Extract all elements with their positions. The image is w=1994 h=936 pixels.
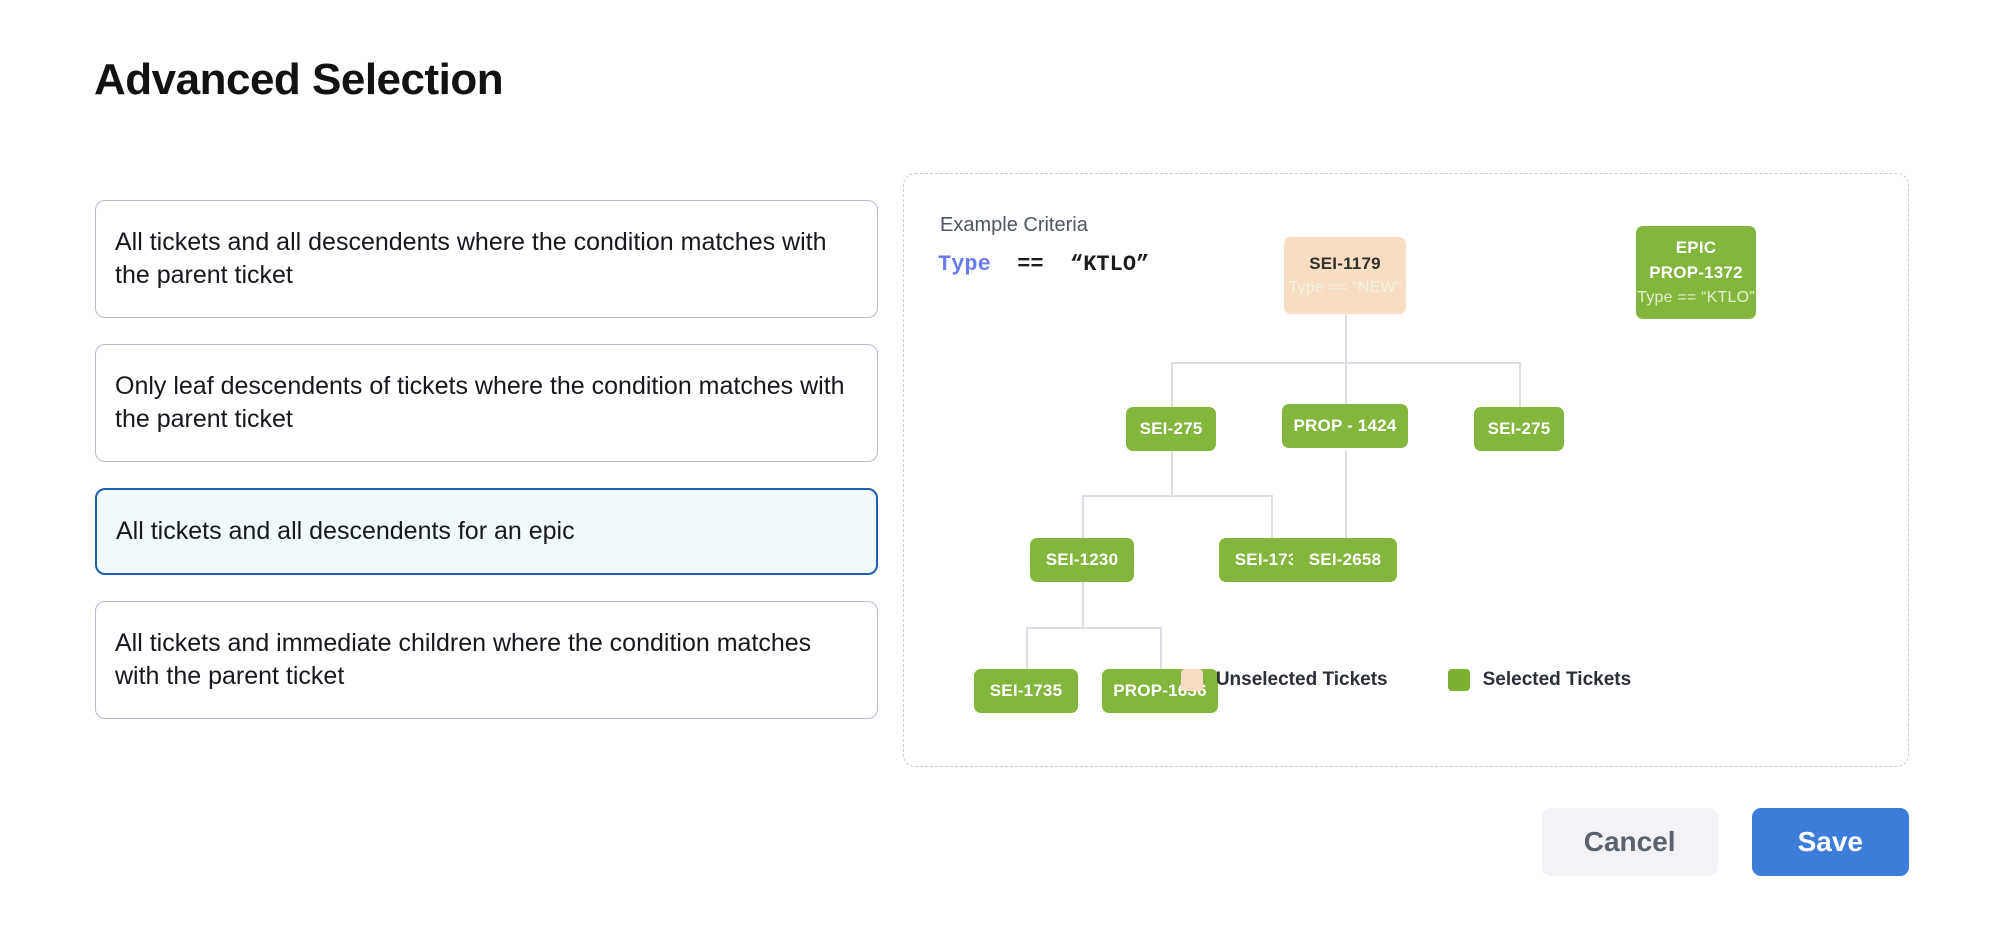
ticket-node-sei-1179[interactable]: SEI-1179 Type == “NEW” [1284, 237, 1406, 314]
diagram-legend: Unselected Tickets Selected Tickets [904, 669, 1908, 691]
legend-swatch-unselected-icon [1181, 669, 1203, 691]
ticket-node-sei-2658[interactable]: SEI-2658 [1293, 538, 1397, 582]
ticket-node-id: PROP-1372 [1649, 261, 1742, 286]
advanced-selection-page: Advanced Selection All tickets and all d… [0, 0, 1994, 936]
example-criteria-expression: Type == “KTLO” [938, 252, 1149, 277]
page-title: Advanced Selection [94, 55, 503, 105]
connector-sei1230-stem [1082, 582, 1084, 627]
legend-item-selected: Selected Tickets [1448, 669, 1632, 691]
save-button[interactable]: Save [1752, 808, 1909, 876]
connector-sei275-stem [1171, 451, 1173, 495]
cancel-button[interactable]: Cancel [1542, 808, 1718, 876]
criteria-keyword: Type [938, 252, 991, 277]
legend-label: Selected Tickets [1483, 669, 1632, 691]
connector-prop1424-to-sei2658 [1345, 451, 1347, 538]
option-card-all-descendents-epic[interactable]: All tickets and all descendents for an e… [95, 488, 878, 575]
connector-row3-bus [1082, 495, 1271, 497]
ticket-node-epic-prop-1372[interactable]: EPIC PROP-1372 Type == “KTLO” [1636, 226, 1756, 319]
connector-row4-left-drop [1026, 627, 1028, 669]
ticket-node-id: SEI-275 [1140, 417, 1203, 442]
ticket-node-sei-275-left[interactable]: SEI-275 [1126, 407, 1216, 451]
criteria-rest: == “KTLO” [991, 252, 1149, 277]
connector-row3-left-drop [1082, 495, 1084, 538]
connector-row2-left-drop [1171, 362, 1173, 407]
ticket-node-condition: Type == “KTLO” [1637, 286, 1755, 309]
ticket-node-id: SEI-275 [1488, 417, 1551, 442]
ticket-node-sei-275-right[interactable]: SEI-275 [1474, 407, 1564, 451]
ticket-node-id: PROP - 1424 [1294, 414, 1397, 439]
ticket-node-id: SEI-1179 [1309, 252, 1381, 277]
option-card-immediate-children-condition[interactable]: All tickets and immediate children where… [95, 601, 878, 719]
ticket-node-id: SEI-2658 [1309, 548, 1381, 573]
connector-row4-bus [1026, 627, 1160, 629]
example-diagram-panel: Example Criteria Type == “KTLO” SEI-1179… [903, 173, 1909, 767]
ticket-node-id: SEI-1230 [1046, 548, 1118, 573]
connector-row3-right-drop [1271, 495, 1273, 538]
ticket-node-sei-1230[interactable]: SEI-1230 [1030, 538, 1134, 582]
legend-label: Unselected Tickets [1216, 669, 1388, 691]
connector-root-stem [1345, 314, 1347, 362]
ticket-node-prop-1424[interactable]: PROP - 1424 [1282, 404, 1408, 448]
option-card-all-descendents-condition[interactable]: All tickets and all descendents where th… [95, 200, 878, 318]
example-criteria-label: Example Criteria [940, 214, 1088, 237]
connector-row2-right-drop [1519, 362, 1521, 407]
legend-swatch-selected-icon [1448, 669, 1470, 691]
legend-item-unselected: Unselected Tickets [1181, 669, 1388, 691]
option-card-leaf-descendents-condition[interactable]: Only leaf descendents of tickets where t… [95, 344, 878, 462]
ticket-node-condition: Type == “NEW” [1289, 276, 1402, 299]
dialog-footer: Cancel Save [1542, 808, 1909, 876]
connector-row2-mid-drop [1345, 362, 1347, 407]
connector-row4-right-drop [1160, 627, 1162, 669]
selection-options-list: All tickets and all descendents where th… [95, 200, 878, 745]
ticket-node-kind: EPIC [1676, 236, 1716, 261]
